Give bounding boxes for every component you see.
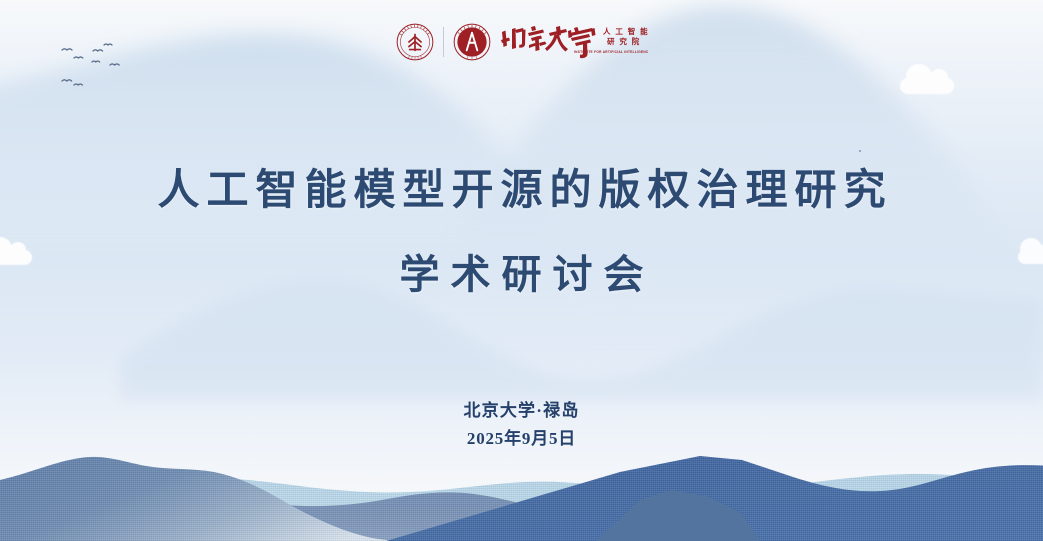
- institute-ai-seal-icon: [453, 23, 491, 61]
- peking-university-seal-icon: [396, 23, 434, 61]
- title-block: 人工智能模型开源的版权治理研究 学术研讨会: [0, 168, 1043, 298]
- institute-english-text: INSTITUTE FOR ARTIFICIAL INTELLIGENCE, P…: [574, 50, 648, 54]
- footer-block: 北京大学·禄岛 2025年9月5日: [0, 398, 1043, 454]
- cloud-upper-right-icon: [900, 78, 954, 94]
- svg-text:人 工 智 能: 人 工 智 能: [603, 26, 648, 36]
- sky-speck: [859, 150, 861, 152]
- conference-poster: 人 工 智 能 研 究 院 INSTITUTE FOR ARTIFICIAL I…: [0, 0, 1043, 541]
- footer-date: 2025年9月5日: [0, 424, 1043, 454]
- svg-text:研 究 院: 研 究 院: [607, 36, 641, 46]
- logo-wordmark: 人 工 智 能 研 究 院 INSTITUTE FOR ARTIFICIAL I…: [500, 22, 648, 62]
- logo-bar: 人 工 智 能 研 究 院 INSTITUTE FOR ARTIFICIAL I…: [0, 22, 1043, 62]
- page-title-line-2: 学术研讨会: [0, 253, 1043, 298]
- footer-venue: 北京大学·禄岛: [0, 398, 1043, 424]
- logo-group[interactable]: 人 工 智 能 研 究 院 INSTITUTE FOR ARTIFICIAL I…: [396, 22, 648, 62]
- far-ridge-mid: [120, 281, 1043, 400]
- page-title-line-1: 人工智能模型开源的版权治理研究: [0, 168, 1043, 215]
- logo-divider: [443, 27, 444, 57]
